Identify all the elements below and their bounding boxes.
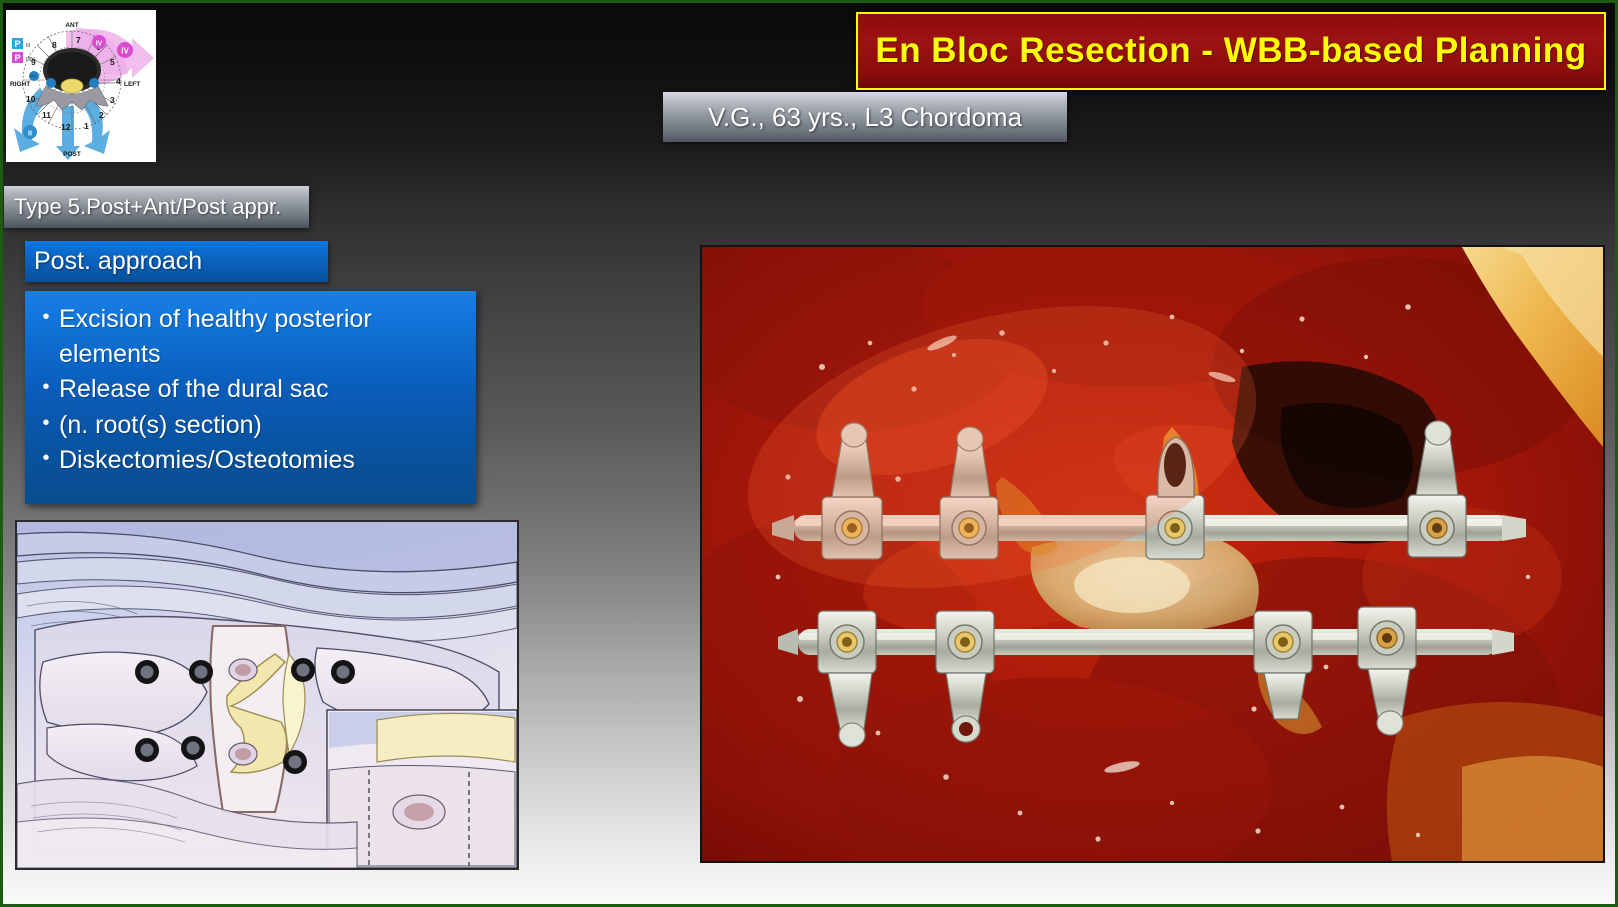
resection-type-box: Type 5.Post+Ant/Post appr. <box>4 186 309 228</box>
svg-text:10: 10 <box>26 94 36 104</box>
intraoperative-photo <box>700 245 1605 863</box>
approach-steps-panel: • Excision of healthy posterior elements… <box>25 291 476 504</box>
svg-text:P: P <box>14 53 20 63</box>
svg-text:9: 9 <box>31 57 36 67</box>
wbb-label-right: RIGHT <box>10 81 30 88</box>
slide-title-banner: En Bloc Resection - WBB-based Planning <box>856 12 1606 90</box>
list-item-label: Release of the dural sac <box>59 372 466 407</box>
list-item-label: (n. root(s) section) <box>59 408 466 443</box>
svg-text:P: P <box>14 39 20 49</box>
wbb-spinal-canal <box>61 79 83 93</box>
wbb-diagram: P P III II/IV <box>6 10 156 162</box>
posterior-approach-illustration <box>15 520 519 870</box>
resection-type-text: Type 5.Post+Ant/Post appr. <box>14 194 281 220</box>
wbb-label-left: LEFT <box>124 81 140 88</box>
svg-text:5: 5 <box>110 57 115 67</box>
svg-text:4: 4 <box>116 76 121 86</box>
patient-caption-text: V.G., 63 yrs., L3 Chordoma <box>708 102 1022 133</box>
svg-text:III: III <box>26 43 30 49</box>
bullet-icon: • <box>33 372 59 404</box>
wbb-label-ant: ANT <box>65 22 78 29</box>
svg-text:2: 2 <box>99 110 104 120</box>
patient-caption-box: V.G., 63 yrs., L3 Chordoma <box>663 92 1067 142</box>
approach-header-text: Post. approach <box>34 247 202 276</box>
wbb-pedicle-marker-left <box>89 78 99 88</box>
svg-text:3: 3 <box>110 95 115 105</box>
svg-text:11: 11 <box>42 110 51 120</box>
svg-text:IV: IV <box>96 41 103 48</box>
bullet-icon: • <box>33 443 59 475</box>
wbb-label-post: POST <box>63 151 81 158</box>
list-item: • Excision of healthy posterior elements <box>33 302 466 371</box>
svg-text:1: 1 <box>84 121 89 131</box>
approach-header-box: Post. approach <box>25 241 328 282</box>
list-item-label: Excision of healthy posterior elements <box>59 302 466 371</box>
svg-text:IV: IV <box>121 47 129 56</box>
list-item: • (n. root(s) section) <box>33 408 466 443</box>
bullet-icon: • <box>33 408 59 440</box>
svg-text:8: 8 <box>52 40 57 50</box>
list-item: • Diskectomies/Osteotomies <box>33 443 466 478</box>
svg-text:7: 7 <box>76 35 81 45</box>
wbb-pedicle-marker-right <box>46 78 56 88</box>
svg-text:II: II <box>28 131 32 138</box>
svg-text:12: 12 <box>61 122 71 132</box>
list-item-label: Diskectomies/Osteotomies <box>59 443 466 478</box>
bullet-icon: • <box>33 302 59 334</box>
list-item: • Release of the dural sac <box>33 372 466 407</box>
presentation-slide: P P III II/IV <box>0 0 1618 907</box>
slide-title-text: En Bloc Resection - WBB-based Planning <box>875 31 1586 71</box>
